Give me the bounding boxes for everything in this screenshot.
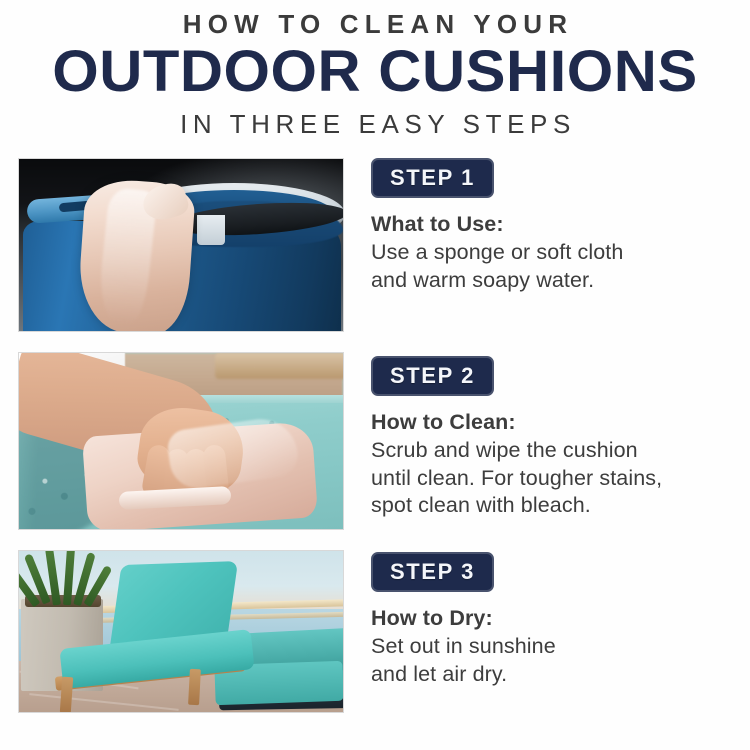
header-subtitle: IN THREE EASY STEPS xyxy=(0,109,750,139)
infographic-page: HOW TO CLEAN YOUR OUTDOOR CUSHIONS IN TH… xyxy=(0,0,750,750)
step-3-badge: STEP 3 xyxy=(371,552,494,592)
bucket-spout xyxy=(197,215,225,245)
header-eyebrow: HOW TO CLEAN YOUR xyxy=(0,9,750,39)
step-3-photo xyxy=(18,550,344,713)
step-1-heading: What to Use: xyxy=(371,211,741,238)
step-2-text-column: STEP 2 How to Clean: Scrub and wipe the … xyxy=(371,356,741,520)
step-3-text-column: STEP 3 How to Dry: Set out in sunshine a… xyxy=(371,552,741,688)
page-title: OUTDOOR CUSHIONS xyxy=(0,42,750,102)
step-3-body: Set out in sunshine and let air dry. xyxy=(371,633,741,688)
chaise-leg xyxy=(188,669,201,706)
step-1-badge: STEP 1 xyxy=(371,158,494,198)
step-2-photo xyxy=(18,352,344,530)
step-1-photo xyxy=(18,158,344,332)
step-2-heading: How to Clean: xyxy=(371,409,741,436)
page-header: HOW TO CLEAN YOUR OUTDOOR CUSHIONS IN TH… xyxy=(0,0,750,139)
step-1-body: Use a sponge or soft cloth and warm soap… xyxy=(371,239,741,294)
step-2-badge: STEP 2 xyxy=(371,356,494,396)
step-3-heading: How to Dry: xyxy=(371,605,741,632)
step-1-text-column: STEP 1 What to Use: Use a sponge or soft… xyxy=(371,158,741,294)
step-2-body: Scrub and wipe the cushion until clean. … xyxy=(371,437,741,520)
background-shelf xyxy=(215,353,344,379)
